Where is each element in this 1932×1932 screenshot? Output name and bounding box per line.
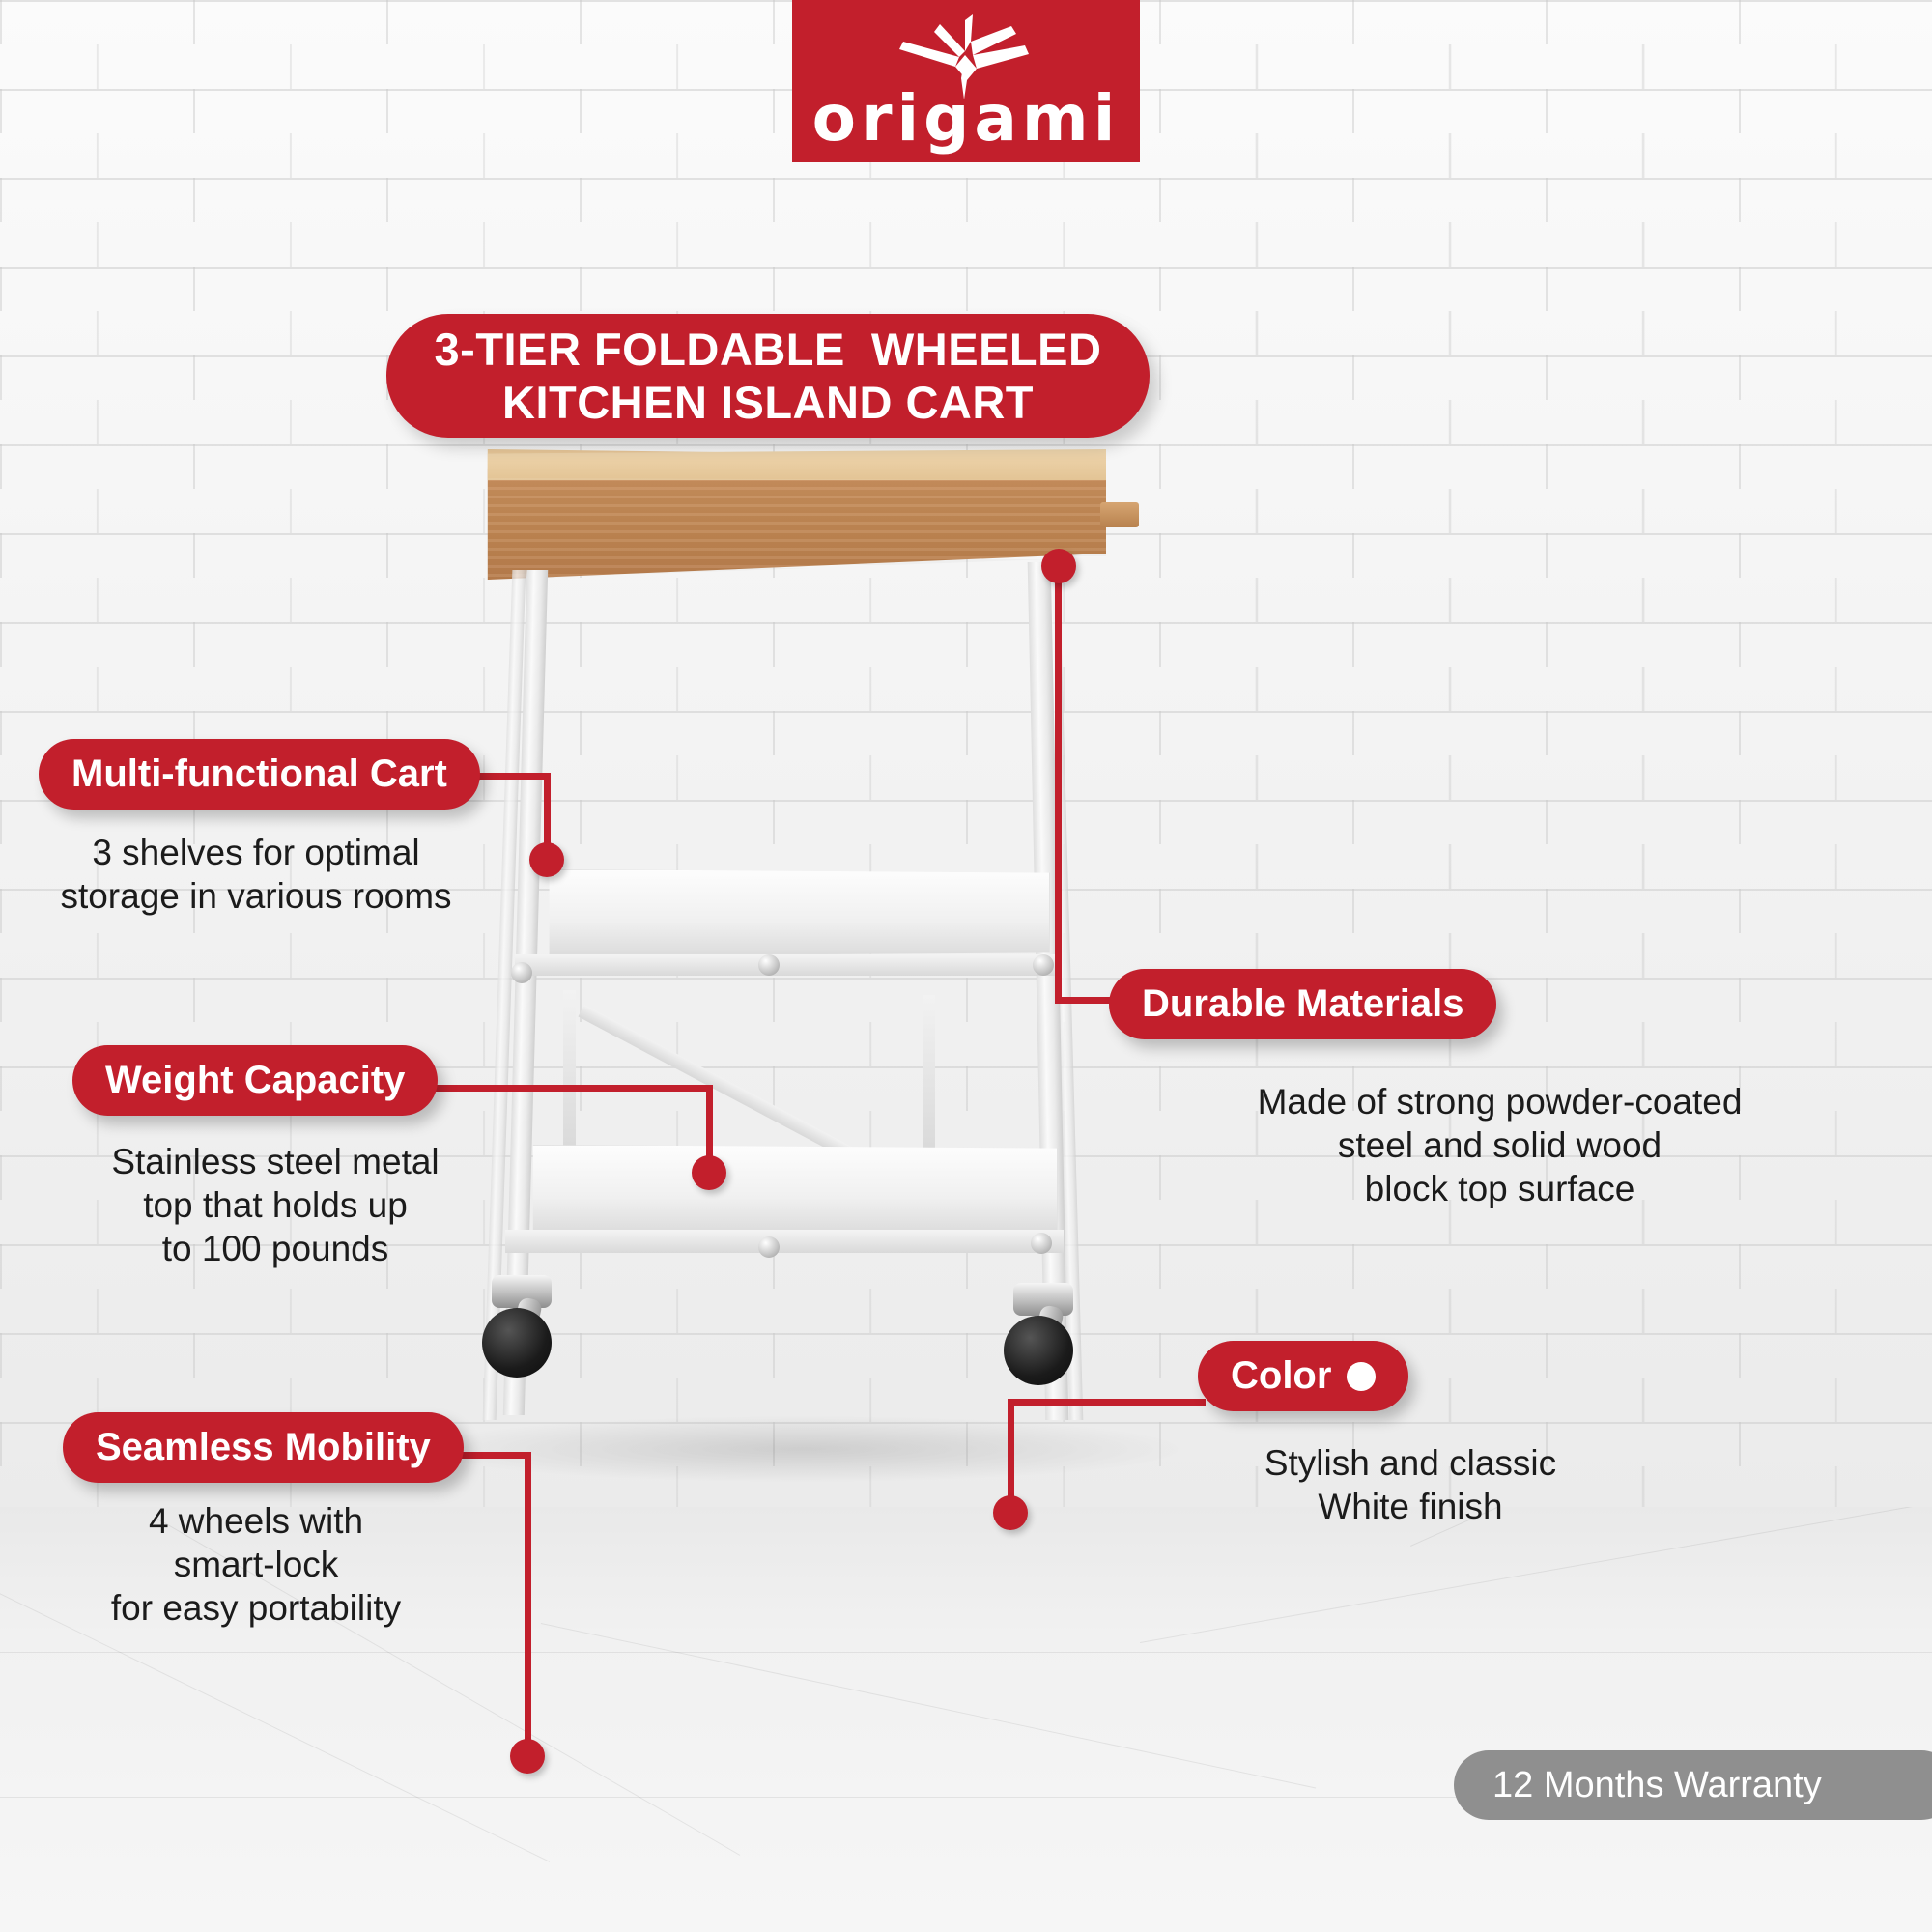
- feature-badge-label: Weight Capacity: [105, 1059, 405, 1102]
- feature-description-multi-functional-cart: 3 shelves for optimal storage in various…: [53, 831, 459, 918]
- cart-rivet-center-mid: [758, 954, 780, 976]
- cart-rivet-right-bottom: [1031, 1233, 1052, 1254]
- feature-badge-label: Color: [1231, 1354, 1331, 1398]
- caster-wheel-front-left: [478, 1275, 565, 1381]
- connector-endpoint-multi-functional-cart: [529, 842, 564, 877]
- cart-shelf-middle: [528, 869, 1050, 956]
- feature-badge-color[interactable]: Color: [1198, 1341, 1408, 1411]
- feature-badge-seamless-mobility[interactable]: Seamless Mobility: [63, 1412, 464, 1483]
- connector-line-durable-materials-v: [1055, 565, 1062, 1002]
- cart-brace-vertical-right: [923, 995, 935, 1159]
- cart-shelf-middle-rail: [515, 954, 1056, 976]
- cart-brace-vertical-left: [563, 990, 576, 1159]
- feature-badge-label: Durable Materials: [1142, 982, 1463, 1026]
- product-title-banner: 3-TIER FOLDABLE WHEELED KITCHEN ISLAND C…: [386, 314, 1150, 438]
- connector-endpoint-durable-materials: [1041, 549, 1076, 583]
- cart-shelf-bottom: [517, 1145, 1058, 1234]
- product-title-line-2: KITCHEN ISLAND CART: [502, 376, 1034, 429]
- warranty-label: 12 Months Warranty: [1492, 1765, 1822, 1806]
- feature-badge-multi-functional-cart[interactable]: Multi-functional Cart: [39, 739, 480, 810]
- brand-name: origami: [812, 87, 1121, 151]
- caster-wheel-front-right: [1000, 1283, 1087, 1389]
- cart-rivet-left-mid: [511, 962, 532, 983]
- wood-dowel-peg: [1100, 502, 1139, 527]
- feature-badge-weight-capacity[interactable]: Weight Capacity: [72, 1045, 438, 1116]
- color-swatch-white-icon: [1347, 1362, 1376, 1391]
- connector-line-weight-capacity-v: [706, 1085, 713, 1162]
- connector-line-durable-materials-h: [1055, 997, 1115, 1004]
- wood-block-top-surface: [469, 449, 1106, 480]
- feature-description-seamless-mobility: 4 wheels with smart-lock for easy portab…: [63, 1499, 449, 1630]
- cart-rivet-right-mid: [1033, 954, 1054, 976]
- connector-line-weight-capacity-h: [406, 1085, 713, 1092]
- product-title-line-1: 3-TIER FOLDABLE WHEELED: [435, 323, 1102, 376]
- connector-endpoint-color: [993, 1495, 1028, 1530]
- cart-shelf-bottom-rail: [505, 1230, 1064, 1253]
- wood-grain-texture: [469, 478, 1106, 580]
- connector-endpoint-seamless-mobility: [510, 1739, 545, 1774]
- feature-description-color: Stylish and classic White finish: [1159, 1441, 1662, 1528]
- feature-badge-label: Multi-functional Cart: [71, 753, 447, 796]
- connector-endpoint-weight-capacity: [692, 1155, 726, 1190]
- feature-badge-durable-materials[interactable]: Durable Materials: [1109, 969, 1496, 1039]
- connector-line-multi-functional-cart-v: [544, 773, 551, 848]
- cart-rivet-center-bottom: [758, 1236, 780, 1258]
- feature-description-weight-capacity: Stainless steel metal top that holds up …: [77, 1140, 473, 1270]
- connector-line-color-h: [1008, 1399, 1206, 1406]
- connector-line-seamless-mobility-v: [525, 1452, 531, 1763]
- feature-badge-label: Seamless Mobility: [96, 1426, 431, 1469]
- warranty-badge: 12 Months Warranty: [1454, 1750, 1932, 1820]
- brand-logo-block: origami: [792, 0, 1140, 162]
- feature-description-durable-materials: Made of strong powder-coated steel and s…: [1067, 1080, 1932, 1210]
